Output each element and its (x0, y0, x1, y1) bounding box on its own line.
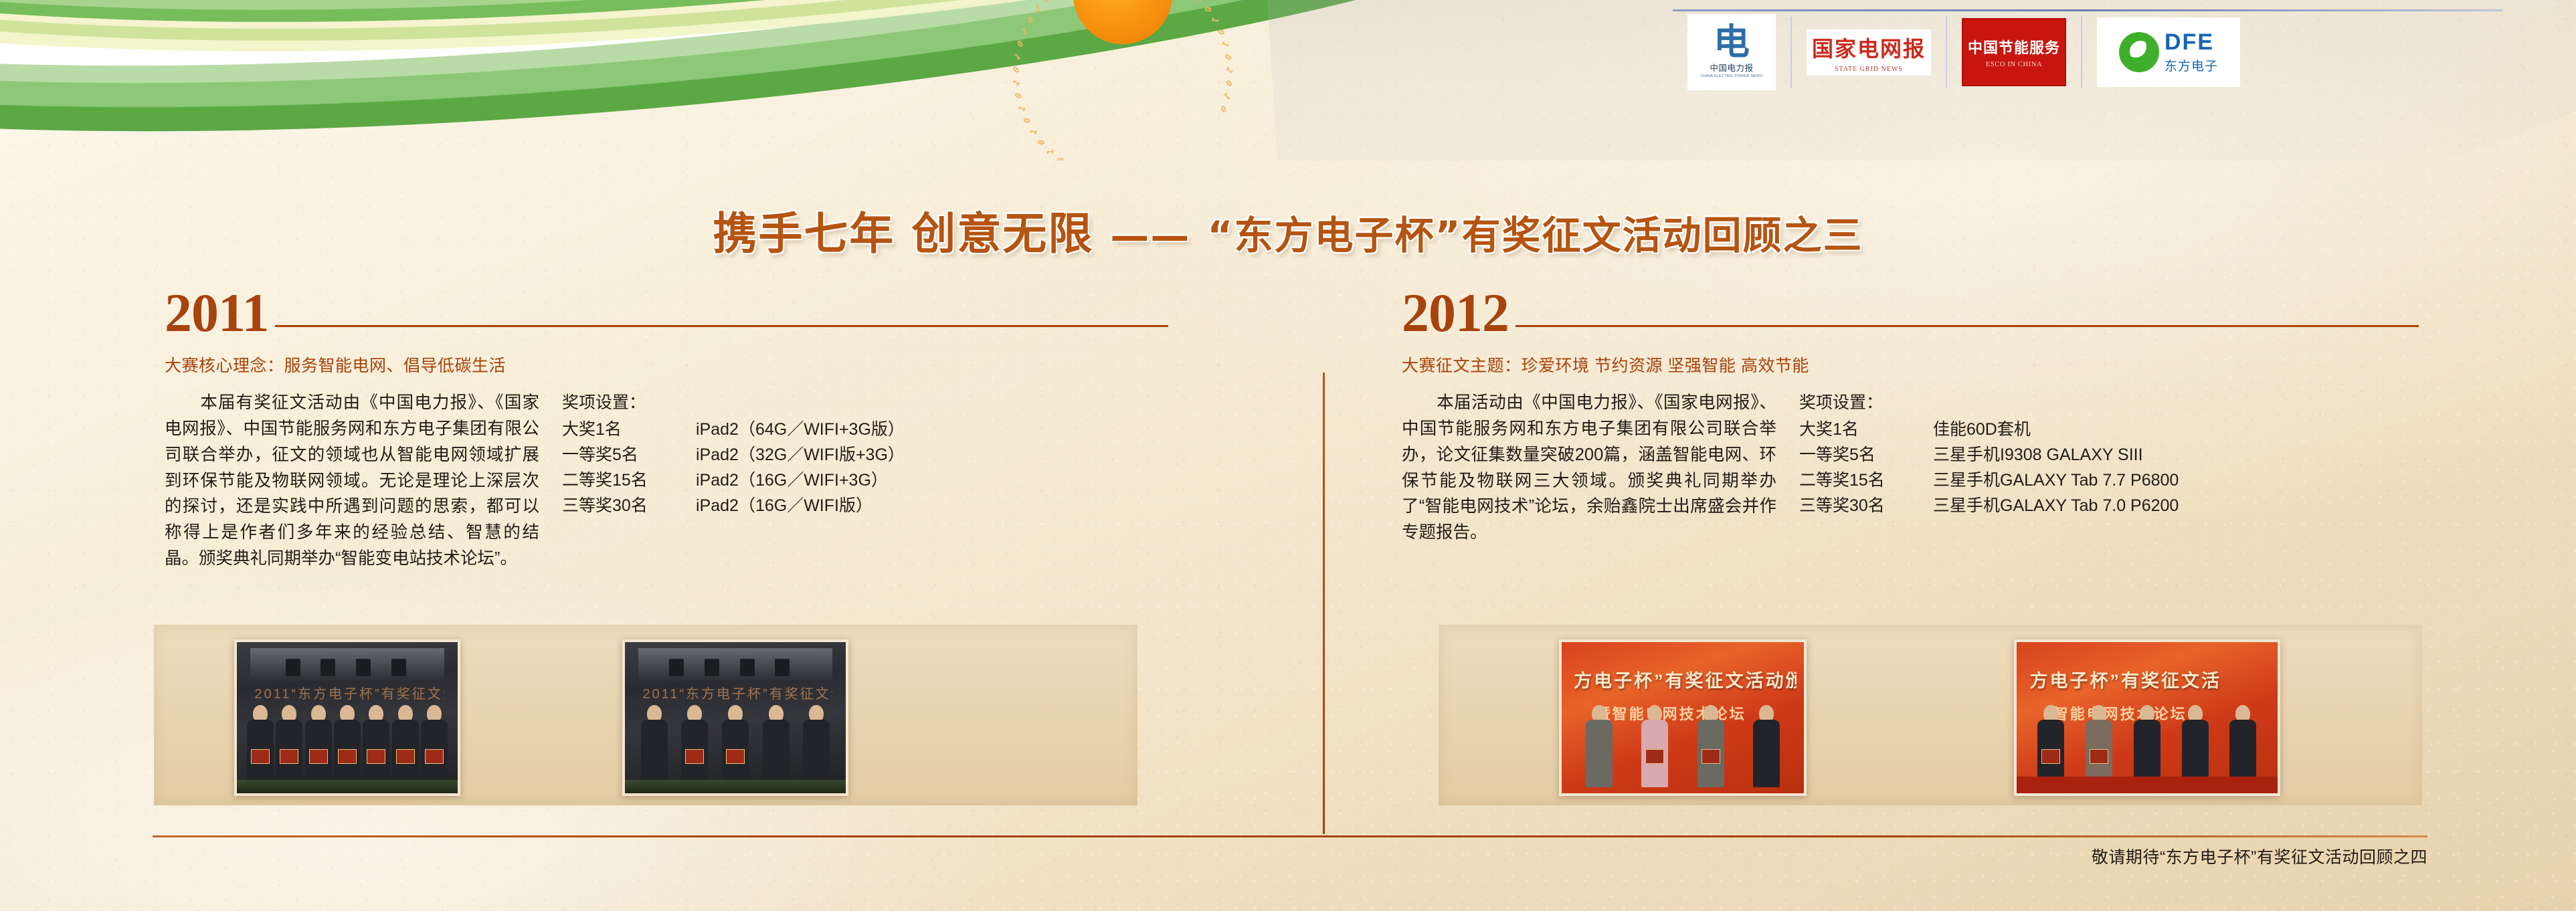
column-2011: 2011 大赛核心理念：服务智能电网、倡导低碳生活 本届有奖征文活动由《中国电力… (165, 288, 1168, 572)
logo-state-grid-news: 国家电网报 STATE GRID NEWS (1792, 16, 1947, 88)
title-dash: —— (1110, 213, 1190, 258)
sun-disc-icon (1073, 0, 1172, 44)
prize-name: 三等奖30名 (562, 493, 696, 518)
slogan-2012: 大赛征文主题：珍爱环境 节约资源 坚强智能 高效节能 (1402, 352, 2419, 377)
prize-row: 三等奖30名 三星手机GALAXY Tab 7.0 P6200 (1799, 493, 2179, 518)
sgn-name-cn: 国家电网报 (1812, 32, 1926, 63)
prize-value: 佳能60D套机 (1933, 417, 2031, 442)
photo-banner-text: 方电子杯”有奖征文活 (2030, 666, 2270, 692)
paragraph-2012: 本届活动由《中国电力报》、《国家电网报》、中国节能服务网和东方电子集团有限公司联… (1402, 390, 1776, 546)
photo-band-2011: 2011“东方电子杯”有奖征文活动 2011“东方电子杯”有奖征文活动颁奖 (154, 625, 1137, 805)
dfe-abbr: DFE (2165, 31, 2214, 54)
title-main: 携手七年 创意无限 (713, 208, 1093, 260)
prize-row: 大奖1名 iPad2（64G／WIFI+3G版） (562, 417, 905, 442)
esco-name-en: ESCO IN CHINA (1986, 61, 2042, 68)
dfe-circle-icon (2119, 32, 2159, 72)
sun-binary-emblem: 1010101010101010101010101010101010101010… (1044, 0, 1202, 74)
stage-foliage (237, 780, 458, 793)
prize-row: 一等奖5名 三星手机I9308 GALAXY SIII (1799, 442, 2179, 468)
year-rule-2012 (1515, 325, 2419, 327)
photo-band-2012: 方电子杯”有奖征文活动颁奖典 暨智能电网技术论坛 方电子杯”有奖征文活 智能电网… (1439, 625, 2422, 805)
prize-list-2011: 奖项设置： 大奖1名 iPad2（64G／WIFI+3G版） 一等奖5名 iPa… (562, 390, 905, 571)
prize-list-2012: 奖项设置： 大奖1名 佳能60D套机 一等奖5名 三星手机I9308 GALAX… (1799, 390, 2179, 546)
award-recipients (246, 694, 449, 787)
prize-name: 一等奖5名 (562, 442, 696, 468)
prize-name: 三等奖30名 (1799, 493, 1933, 518)
prize-name: 大奖1名 (1799, 417, 1933, 442)
prize-row: 二等奖15名 三星手机GALAXY Tab 7.7 P6800 (1799, 468, 2179, 493)
year-label-2012: 2012 (1402, 288, 1509, 338)
photo-2011-2: 2011“东方电子杯”有奖征文活动颁奖典礼 (622, 639, 848, 796)
prize-name: 一等奖5名 (1799, 442, 1933, 468)
prize-value: iPad2（32G／WIFI版+3G） (696, 442, 905, 468)
sgn-name-en: STATE GRID NEWS (1835, 66, 1903, 73)
logo-dongfang-electronics: DFE 东方电子 (2082, 16, 2255, 88)
logo-esco-in-china: 中国节能服务 ESCO IN CHINA (1947, 16, 2082, 88)
prize-value: iPad2（16G／WIFI+3G） (696, 468, 888, 493)
esco-name-cn: 中国节能服务 (1968, 36, 2060, 58)
sponsor-logo-bar: 电 中国电力报 CHINA ELECTRIC POWER NEWS 国家电网报 … (1673, 9, 2536, 92)
prize-row: 大奖1名 佳能60D套机 (1799, 417, 2179, 442)
prize-value: iPad2（16G／WIFI版） (696, 493, 872, 518)
column-2012: 2012 大赛征文主题：珍爱环境 节约资源 坚强智能 高效节能 本届活动由《中国… (1402, 288, 2419, 546)
ceiling-truss (638, 648, 832, 682)
prize-header-2012: 奖项设置： (1799, 390, 2179, 415)
ceiling-truss (250, 648, 444, 682)
prize-row: 一等奖5名 iPad2（32G／WIFI版+3G） (562, 442, 905, 468)
year-heading-2012: 2012 (1402, 288, 2419, 338)
stage-floor (2017, 777, 2278, 793)
prize-name: 二等奖15名 (1799, 468, 1933, 493)
photo-banner-text: 方电子杯”有奖征文活动颁奖典 (1574, 666, 1797, 692)
photo-2011-1: 2011“东方电子杯”有奖征文活动 (234, 639, 460, 796)
award-recipients (2027, 694, 2268, 787)
photo-2012-2: 方电子杯”有奖征文活 智能电网技术论坛 (2014, 639, 2280, 796)
footer-note: 敬请期待“东方电子杯”有奖征文活动回顾之四 (2092, 844, 2427, 868)
award-recipients (1571, 694, 1794, 787)
slogan-2011: 大赛核心理念：服务智能电网、倡导低碳生活 (165, 352, 1168, 377)
photo-2012-1: 方电子杯”有奖征文活动颁奖典 暨智能电网技术论坛 (1559, 639, 1807, 796)
prize-value: 三星手机GALAXY Tab 7.0 P6200 (1933, 493, 2179, 518)
year-label-2011: 2011 (165, 288, 268, 338)
prize-row: 二等奖15名 iPad2（16G／WIFI+3G） (562, 468, 905, 493)
column-divider (1323, 373, 1325, 834)
footer-rule (153, 835, 2427, 837)
stage-foliage (625, 780, 846, 793)
page-title: 携手七年 创意无限 —— “东方电子杯”有奖征文活动回顾之三 (0, 198, 2576, 262)
prize-header-2011: 奖项设置： (562, 390, 905, 415)
prize-name: 大奖1名 (562, 417, 696, 442)
prize-value: 三星手机I9308 GALAXY SIII (1933, 442, 2143, 468)
year-heading-2011: 2011 (165, 288, 1168, 338)
title-sub: “东方电子杯”有奖征文活动回顾之三 (1207, 213, 1863, 258)
cepn-mark-icon: 电 (1714, 26, 1750, 59)
prize-value: 三星手机GALAXY Tab 7.7 P6800 (1933, 468, 2179, 493)
prize-row: 三等奖30名 iPad2（16G／WIFI版） (562, 493, 905, 518)
prize-name: 二等奖15名 (562, 468, 696, 493)
prize-value: iPad2（64G／WIFI+3G版） (696, 417, 905, 442)
paragraph-2011: 本届有奖征文活动由《中国电力报》、《国家电网报》、中国节能服务网和东方电子集团有… (165, 390, 539, 571)
logo-china-electric-power-news: 电 中国电力报 CHINA ELECTRIC POWER NEWS (1673, 16, 1792, 88)
cepn-name-en: CHINA ELECTRIC POWER NEWS (1701, 74, 1762, 78)
year-rule-2011 (275, 325, 1168, 327)
award-recipients (634, 694, 837, 787)
cepn-name-cn: 中国电力报 (1710, 61, 1753, 74)
logo-bar-rule (1673, 9, 2502, 11)
dfe-name-cn: 东方电子 (2165, 56, 2218, 74)
poster-canvas: 1010101010101010101010101010101010101010… (0, 0, 2576, 911)
